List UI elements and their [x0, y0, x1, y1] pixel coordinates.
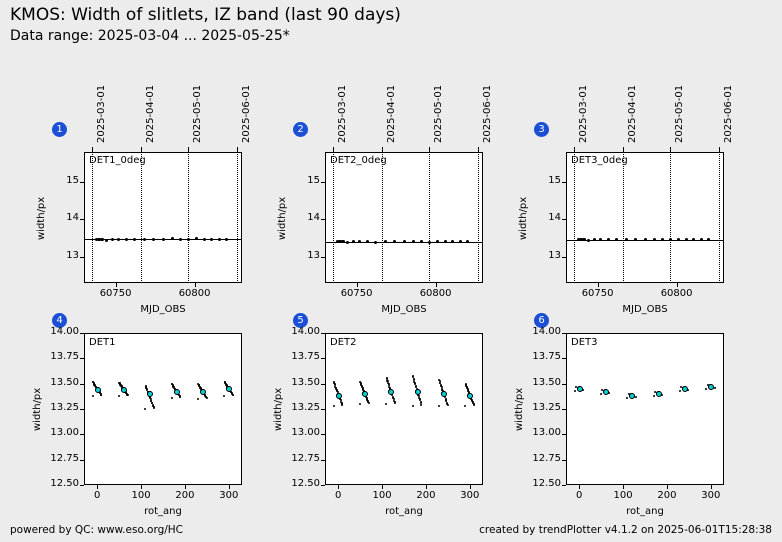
- data-point-5-59: [392, 396, 394, 398]
- data-point-5-84: [420, 401, 422, 403]
- y-tick-label-5-0: 12.50: [285, 478, 320, 489]
- y-tick-label-6-0: 12.50: [526, 478, 561, 489]
- date-gridline-2-3: [478, 152, 479, 283]
- date-tick-label-2-3: 2025-06-01: [482, 85, 493, 143]
- y-tickmark-6-1: [562, 460, 566, 461]
- footer-left: powered by QC: www.eso.org/HC: [10, 524, 183, 536]
- y-tick-label-4-0: 12.50: [44, 478, 79, 489]
- data-point-5-18: [341, 402, 343, 404]
- y-tickmark-5-1: [321, 460, 325, 461]
- mean-marker-6-0: [577, 386, 583, 392]
- data-point-3-12: [644, 238, 647, 241]
- date-tick-label-1-1: 2025-04-01: [145, 85, 156, 143]
- x-tickmark-2-1: [436, 283, 437, 287]
- footer-right: created by trendPlotter v4.1.2 on 2025-0…: [479, 524, 772, 536]
- y-tick-label-2-1: 14: [291, 212, 320, 223]
- x-axis-title-5: rot_ang: [325, 506, 483, 517]
- y-tickmark-4-4: [80, 384, 84, 385]
- data-point-3-13: [653, 238, 656, 241]
- data-point-6-0: [574, 390, 576, 392]
- date-gridline-1-2: [188, 152, 189, 283]
- y-tickmark-5-4: [321, 384, 325, 385]
- x-tick-label-4-1: 100: [121, 490, 161, 501]
- panel-title-4: DET1: [89, 337, 116, 348]
- data-point-2-9: [374, 241, 377, 244]
- data-point-5-0: [333, 405, 335, 407]
- x-tickmark-3-1: [677, 283, 678, 287]
- x-axis-title-6: rot_ang: [566, 506, 724, 517]
- y-axis-title-5: width/px: [273, 388, 284, 431]
- data-point-5-19: [335, 387, 337, 389]
- plot-area-3: [566, 152, 724, 283]
- date-tickmark-1-2: [188, 147, 189, 152]
- y-tick-label-6-6: 14.00: [526, 326, 561, 337]
- plot-area-5: [325, 333, 483, 485]
- y-tickmark-6-3: [562, 409, 566, 410]
- date-tickmark-2-3: [478, 147, 479, 152]
- date-gridline-3-2: [670, 152, 671, 283]
- panel-title-5: DET2: [330, 337, 357, 348]
- data-point-4-88: [197, 398, 199, 400]
- y-tickmark-5-0: [321, 485, 325, 486]
- x-tick-label-1-0: 60750: [91, 288, 141, 299]
- y-tick-label-6-3: 13.25: [526, 402, 561, 413]
- data-point-1-11: [152, 238, 155, 241]
- data-point-1-20: [225, 238, 228, 241]
- y-tick-label-5-3: 13.25: [285, 402, 320, 413]
- x-tickmark-3-0: [598, 283, 599, 287]
- data-point-5-103: [445, 398, 447, 400]
- y-tickmark-5-5: [321, 358, 325, 359]
- x-tick-label-4-0: 0: [77, 490, 117, 501]
- x-tickmark-6-1: [623, 485, 624, 489]
- x-tick-label-3-0: 60750: [573, 288, 623, 299]
- date-gridline-2-1: [382, 152, 383, 283]
- data-point-2-16: [436, 240, 439, 243]
- data-point-6-6: [600, 393, 602, 395]
- data-point-3-14: [661, 238, 664, 241]
- date-tickmark-1-0: [92, 147, 93, 152]
- y-tick-label-4-6: 14.00: [44, 326, 79, 337]
- data-point-4-84: [179, 395, 181, 397]
- date-gridline-1-0: [92, 152, 93, 283]
- y-axis-title-4: width/px: [32, 388, 43, 431]
- data-point-3-20: [707, 238, 710, 241]
- data-point-4-22: [118, 395, 120, 397]
- data-point-4-64: [150, 400, 152, 402]
- data-point-5-14: [336, 389, 338, 391]
- page-subtitle: Data range: 2025-03-04 ... 2025-05-25*: [10, 26, 401, 46]
- data-point-4-65: [145, 385, 147, 387]
- date-gridline-3-1: [623, 152, 624, 283]
- data-point-1-13: [171, 237, 174, 240]
- data-point-5-57: [394, 402, 396, 404]
- y-tick-label-3-0: 13: [532, 250, 561, 261]
- y-tick-label-4-5: 13.75: [44, 351, 79, 362]
- data-point-4-87: [171, 383, 173, 385]
- y-tickmark-6-5: [562, 358, 566, 359]
- date-tick-label-1-2: 2025-05-01: [192, 85, 203, 143]
- y-tick-label-2-2: 15: [291, 175, 320, 186]
- data-point-3-16: [677, 238, 680, 241]
- y-axis-title-6: width/px: [514, 388, 525, 431]
- x-tick-label-6-1: 100: [603, 490, 643, 501]
- x-axis-title-4: rot_ang: [84, 506, 242, 517]
- y-tick-label-6-5: 13.75: [526, 351, 561, 362]
- mean-marker-4-0: [95, 387, 101, 393]
- date-tick-label-1-0: 2025-03-01: [96, 85, 107, 143]
- y-tickmark-3-1: [562, 219, 566, 220]
- data-point-5-88: [438, 405, 440, 407]
- date-tick-label-3-0: 2025-03-01: [578, 85, 589, 143]
- y-tick-label-5-5: 13.75: [285, 351, 320, 362]
- y-tick-label-1-1: 14: [50, 212, 79, 223]
- panel-title-1: DET1_0deg: [89, 155, 146, 166]
- date-gridline-3-3: [719, 152, 720, 283]
- y-tick-label-4-3: 13.25: [44, 402, 79, 413]
- panel-badge-3[interactable]: 3: [534, 122, 549, 137]
- page-header: KMOS: Width of slitlets, IZ band (last 9…: [10, 4, 401, 46]
- y-tickmark-4-2: [80, 434, 84, 435]
- mean-marker-5-3: [415, 389, 421, 395]
- x-tick-label-2-1: 60800: [411, 288, 461, 299]
- y-tick-label-1-0: 13: [50, 250, 79, 261]
- x-tickmark-6-3: [711, 485, 712, 489]
- x-tickmark-4-1: [141, 485, 142, 489]
- date-tickmark-3-3: [719, 147, 720, 152]
- x-tickmark-4-0: [97, 485, 98, 489]
- y-tickmark-6-2: [562, 434, 566, 435]
- x-tickmark-5-2: [426, 485, 427, 489]
- y-tickmark-6-0: [562, 485, 566, 486]
- data-point-1-12: [162, 238, 165, 241]
- date-tick-label-3-2: 2025-05-01: [674, 85, 685, 143]
- y-tickmark-3-2: [562, 182, 566, 183]
- panel-title-6: DET3: [571, 337, 598, 348]
- data-point-2-13: [412, 240, 415, 243]
- y-axis-title-2: width/px: [277, 196, 288, 239]
- data-point-5-102: [441, 388, 443, 390]
- y-tickmark-1-1: [80, 219, 84, 220]
- x-tickmark-5-3: [470, 485, 471, 489]
- data-point-3-10: [625, 238, 628, 241]
- data-point-5-104: [439, 382, 441, 384]
- data-point-5-35: [368, 402, 370, 404]
- y-tick-label-4-1: 12.75: [44, 453, 79, 464]
- data-point-2-10: [384, 240, 387, 243]
- data-point-1-17: [203, 238, 206, 241]
- y-tickmark-4-0: [80, 485, 84, 486]
- x-tickmark-5-1: [382, 485, 383, 489]
- x-tick-label-4-3: 300: [209, 490, 249, 501]
- data-point-6-24: [679, 390, 681, 392]
- data-point-4-0: [92, 395, 94, 397]
- y-tickmark-5-6: [321, 333, 325, 334]
- x-tick-label-2-0: 60750: [332, 288, 382, 299]
- x-tickmark-4-3: [229, 485, 230, 489]
- y-tick-label-3-2: 15: [532, 175, 561, 186]
- x-tick-label-4-2: 200: [165, 490, 205, 501]
- date-gridline-1-3: [237, 152, 238, 283]
- data-point-5-101: [447, 404, 449, 406]
- data-point-4-18: [100, 393, 102, 395]
- date-tick-label-2-2: 2025-05-01: [433, 85, 444, 143]
- date-tickmark-3-2: [670, 147, 671, 152]
- y-tickmark-2-2: [321, 182, 325, 183]
- y-tickmark-2-0: [321, 257, 325, 258]
- x-axis-title-2: MJD_OBS: [325, 304, 483, 315]
- data-point-4-21: [92, 381, 94, 383]
- plot-area-6: [566, 333, 724, 485]
- panel-title-3: DET3_0deg: [571, 155, 628, 166]
- y-tickmark-2-1: [321, 219, 325, 220]
- data-point-2-5: [346, 241, 349, 244]
- data-point-5-81: [418, 397, 420, 399]
- data-point-5-82: [413, 378, 415, 380]
- x-tickmark-2-0: [357, 283, 358, 287]
- data-point-2-15: [428, 241, 431, 244]
- x-axis-title-1: MJD_OBS: [84, 304, 242, 315]
- y-tick-label-5-6: 14.00: [285, 326, 320, 337]
- panel-badge-2[interactable]: 2: [293, 122, 308, 137]
- data-point-5-131: [465, 383, 467, 385]
- y-tick-label-4-4: 13.50: [44, 377, 79, 388]
- x-tickmark-4-2: [185, 485, 186, 489]
- plot-area-4: [84, 333, 242, 485]
- data-point-3-6: [593, 238, 596, 241]
- x-tick-label-5-2: 200: [406, 490, 446, 501]
- date-tickmark-3-0: [574, 147, 575, 152]
- data-point-5-21: [333, 381, 335, 383]
- y-tickmark-4-5: [80, 358, 84, 359]
- date-tickmark-2-0: [333, 147, 334, 152]
- data-point-1-15: [187, 238, 190, 241]
- x-tick-label-5-0: 0: [318, 490, 358, 501]
- y-tickmark-1-0: [80, 257, 84, 258]
- data-point-4-131: [224, 381, 226, 383]
- data-point-3-17: [685, 238, 688, 241]
- y-tick-label-6-4: 13.50: [526, 377, 561, 388]
- data-point-5-80: [415, 385, 417, 387]
- data-point-5-66: [412, 405, 414, 407]
- mean-marker-6-3: [656, 391, 662, 397]
- x-tickmark-5-0: [338, 485, 339, 489]
- y-tickmark-6-6: [562, 333, 566, 334]
- date-tickmark-1-1: [141, 147, 142, 152]
- data-point-4-59: [151, 402, 153, 404]
- data-point-5-62: [393, 400, 395, 402]
- mean-marker-4-3: [174, 389, 180, 395]
- x-tick-label-6-2: 200: [647, 490, 687, 501]
- data-point-5-37: [366, 397, 368, 399]
- date-tickmark-1-3: [237, 147, 238, 152]
- y-tickmark-5-3: [321, 409, 325, 410]
- y-tick-label-1-2: 15: [50, 175, 79, 186]
- data-point-1-14: [179, 238, 182, 241]
- date-gridline-2-0: [333, 152, 334, 283]
- date-tick-label-3-1: 2025-04-01: [627, 85, 638, 143]
- data-point-5-106: [446, 402, 448, 404]
- x-axis-title-3: MJD_OBS: [566, 304, 724, 315]
- data-point-1-5: [105, 239, 108, 242]
- y-tick-label-6-2: 13.00: [526, 427, 561, 438]
- x-tick-label-6-0: 0: [559, 490, 599, 501]
- y-tick-label-5-4: 13.50: [285, 377, 320, 388]
- panel-title-2: DET2_0deg: [330, 155, 387, 166]
- date-tickmark-2-2: [429, 147, 430, 152]
- y-tick-label-5-1: 12.75: [285, 453, 320, 464]
- y-tickmark-4-6: [80, 333, 84, 334]
- data-point-4-66: [171, 397, 173, 399]
- data-point-5-65: [386, 377, 388, 379]
- date-tick-label-1-3: 2025-06-01: [241, 85, 252, 143]
- y-tick-label-4-2: 13.00: [44, 427, 79, 438]
- x-tickmark-1-0: [116, 283, 117, 287]
- date-tick-label-3-3: 2025-06-01: [723, 85, 734, 143]
- date-gridline-2-2: [429, 152, 430, 283]
- data-point-1-10: [143, 238, 146, 241]
- y-tickmark-4-1: [80, 460, 84, 461]
- y-tickmark-6-4: [562, 384, 566, 385]
- x-tick-label-3-1: 60800: [652, 288, 702, 299]
- data-point-6-18: [653, 395, 655, 397]
- y-tick-label-5-2: 13.00: [285, 427, 320, 438]
- data-point-2-12: [403, 240, 406, 243]
- data-point-5-125: [471, 399, 473, 401]
- x-tick-label-6-3: 300: [691, 490, 731, 501]
- y-tick-label-6-1: 12.75: [526, 453, 561, 464]
- y-tickmark-5-2: [321, 434, 325, 435]
- page-title: KMOS: Width of slitlets, IZ band (last 9…: [10, 4, 401, 26]
- data-point-4-106: [205, 396, 207, 398]
- y-tick-label-2-0: 13: [291, 250, 320, 261]
- y-tick-label-3-1: 14: [532, 212, 561, 223]
- plot-area-1: [84, 152, 242, 283]
- y-axis-title-1: width/px: [36, 196, 47, 239]
- data-point-1-8: [125, 238, 128, 241]
- x-tickmark-1-1: [195, 283, 196, 287]
- x-tickmark-6-0: [579, 485, 580, 489]
- data-point-3-5: [587, 239, 590, 242]
- y-tickmark-1-2: [80, 182, 84, 183]
- x-tick-label-1-1: 60800: [170, 288, 220, 299]
- plot-area-2: [325, 152, 483, 283]
- date-tick-label-2-1: 2025-04-01: [386, 85, 397, 143]
- date-tickmark-2-1: [382, 147, 383, 152]
- mean-marker-5-0: [336, 393, 342, 399]
- date-tickmark-3-1: [623, 147, 624, 152]
- date-tick-label-2-0: 2025-03-01: [337, 85, 348, 143]
- panel-badge-1[interactable]: 1: [52, 122, 67, 137]
- date-gridline-1-1: [141, 152, 142, 283]
- x-tick-label-5-3: 300: [450, 490, 490, 501]
- data-point-5-22: [359, 403, 361, 405]
- date-gridline-3-0: [574, 152, 575, 283]
- x-tickmark-6-2: [667, 485, 668, 489]
- y-tickmark-4-3: [80, 409, 84, 410]
- data-point-1-6: [111, 238, 114, 241]
- y-tickmark-3-0: [562, 257, 566, 258]
- x-tick-label-5-1: 100: [362, 490, 402, 501]
- y-axis-title-3: width/px: [518, 196, 529, 239]
